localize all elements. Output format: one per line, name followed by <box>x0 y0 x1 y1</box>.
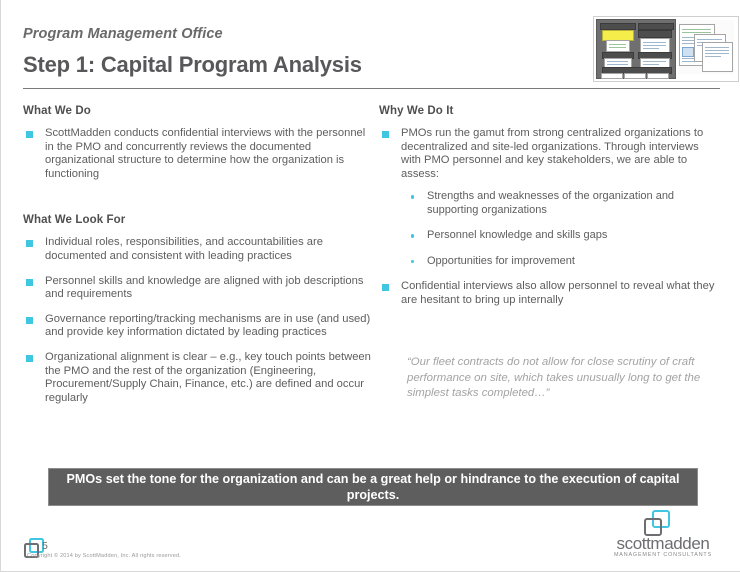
slide-canvas: Program Management Office Step 1: Capita… <box>0 0 740 572</box>
left-content-column: What We Do ScottMadden conducts confiden… <box>23 105 375 416</box>
process-overview-thumbnail-icon <box>593 16 739 82</box>
list-item: PMOs run the gamut from strong centraliz… <box>379 127 721 268</box>
section-spacer <box>23 192 375 214</box>
why-we-do-it-bullet-list: PMOs run the gamut from strong centraliz… <box>379 127 721 307</box>
copyright-notice: Copyright © 2014 by ScottMadden, Inc. Al… <box>27 553 181 559</box>
header-eyebrow: Program Management Office <box>23 26 223 42</box>
what-we-look-for-bullet-list: Individual roles, responsibilities, and … <box>23 236 375 405</box>
list-item: Governance reporting/tracking mechanisms… <box>23 313 375 340</box>
list-item: Personnel skills and knowledge are align… <box>23 275 375 302</box>
list-item-text: PMOs run the gamut from strong centraliz… <box>401 127 703 180</box>
section-heading-why-we-do-it: Why We Do It <box>379 105 721 117</box>
sub-list-item: Personnel knowledge and skills gaps <box>401 229 721 242</box>
list-item: Individual roles, responsibilities, and … <box>23 236 375 263</box>
banner-text: PMOs set the tone for the organization a… <box>49 471 697 503</box>
logo-wordmark: scottmadden <box>607 535 719 553</box>
page-title: Step 1: Capital Program Analysis <box>23 52 362 78</box>
scottmadden-logo: scottmadden MANAGEMENT CONSULTANTS <box>607 510 719 558</box>
what-we-do-bullet-list: ScottMadden conducts confidential interv… <box>23 127 375 181</box>
list-item: Organizational alignment is clear – e.g.… <box>23 351 375 405</box>
right-content-column: Why We Do It PMOs run the gamut from str… <box>379 105 721 318</box>
scottmadden-mark-icon <box>644 510 670 534</box>
sub-list-item: Strengths and weaknesses of the organiza… <box>401 190 721 217</box>
client-quote: “Our fleet contracts do not allow for cl… <box>407 355 727 402</box>
logo-tagline: MANAGEMENT CONSULTANTS <box>607 552 719 558</box>
section-heading-what-we-do: What We Do <box>23 105 375 117</box>
list-item: ScottMadden conducts confidential interv… <box>23 127 375 181</box>
thumbnail-report-panel <box>678 20 734 74</box>
thumbnail-flow-panel <box>596 19 676 79</box>
key-takeaway-banner: PMOs set the tone for the organization a… <box>48 468 698 506</box>
page-number: 5 <box>42 540 48 552</box>
sub-list-item: Opportunities for improvement <box>401 255 721 268</box>
assessment-sub-bullet-list: Strengths and weaknesses of the organiza… <box>401 190 721 268</box>
list-item: Confidential interviews also allow perso… <box>379 280 721 307</box>
header-divider <box>23 88 720 89</box>
section-heading-what-we-look-for: What We Look For <box>23 214 375 226</box>
